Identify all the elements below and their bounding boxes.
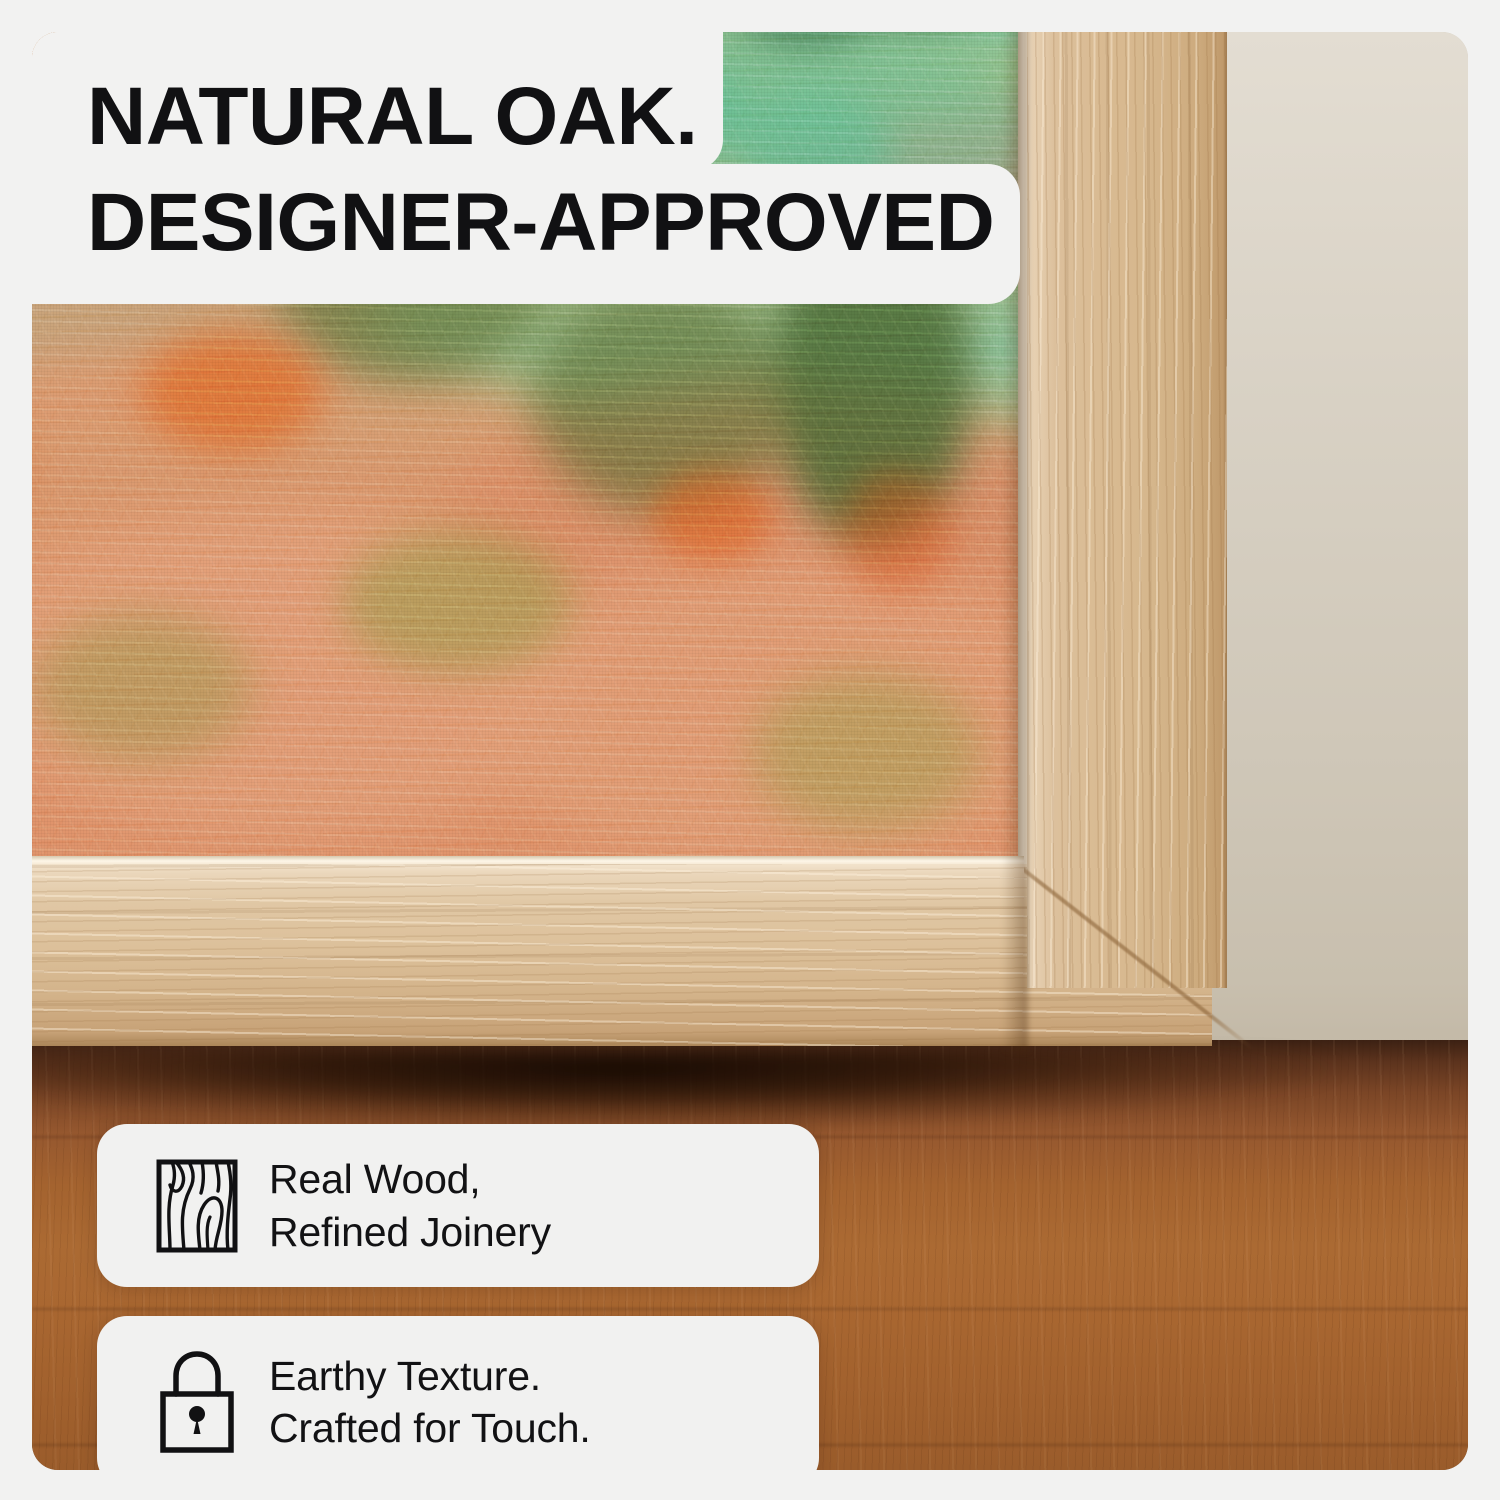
- feature-badge-text: Earthy Texture. Crafted for Touch.: [269, 1350, 591, 1454]
- oak-grain-texture: [1027, 32, 1227, 988]
- oak-picture-frame: [32, 32, 1272, 1092]
- frame-right-stile: [1027, 32, 1227, 988]
- framed-artwork: [32, 32, 1020, 858]
- feature-line-1: Earthy Texture.: [269, 1353, 541, 1399]
- wood-grain-icon: [149, 1159, 245, 1253]
- frame-edge-shadow: [1002, 32, 1028, 1052]
- table-plank-seam: [32, 1308, 1468, 1311]
- product-photo: NATURAL OAK. DESIGNER-APPROVED R: [32, 32, 1468, 1470]
- feature-badge-real-wood: Real Wood, Refined Joinery: [97, 1124, 819, 1287]
- feature-badge-text: Real Wood, Refined Joinery: [269, 1153, 551, 1257]
- artwork-canvas-weave: [32, 32, 1020, 858]
- feature-line-2: Crafted for Touch.: [269, 1402, 591, 1454]
- feature-badge-earthy-texture: Earthy Texture. Crafted for Touch.: [97, 1316, 819, 1470]
- product-image-canvas: NATURAL OAK. DESIGNER-APPROVED R: [0, 0, 1500, 1500]
- feature-line-1: Real Wood,: [269, 1156, 480, 1202]
- feature-line-2: Refined Joinery: [269, 1206, 551, 1258]
- padlock-icon: [149, 1350, 245, 1454]
